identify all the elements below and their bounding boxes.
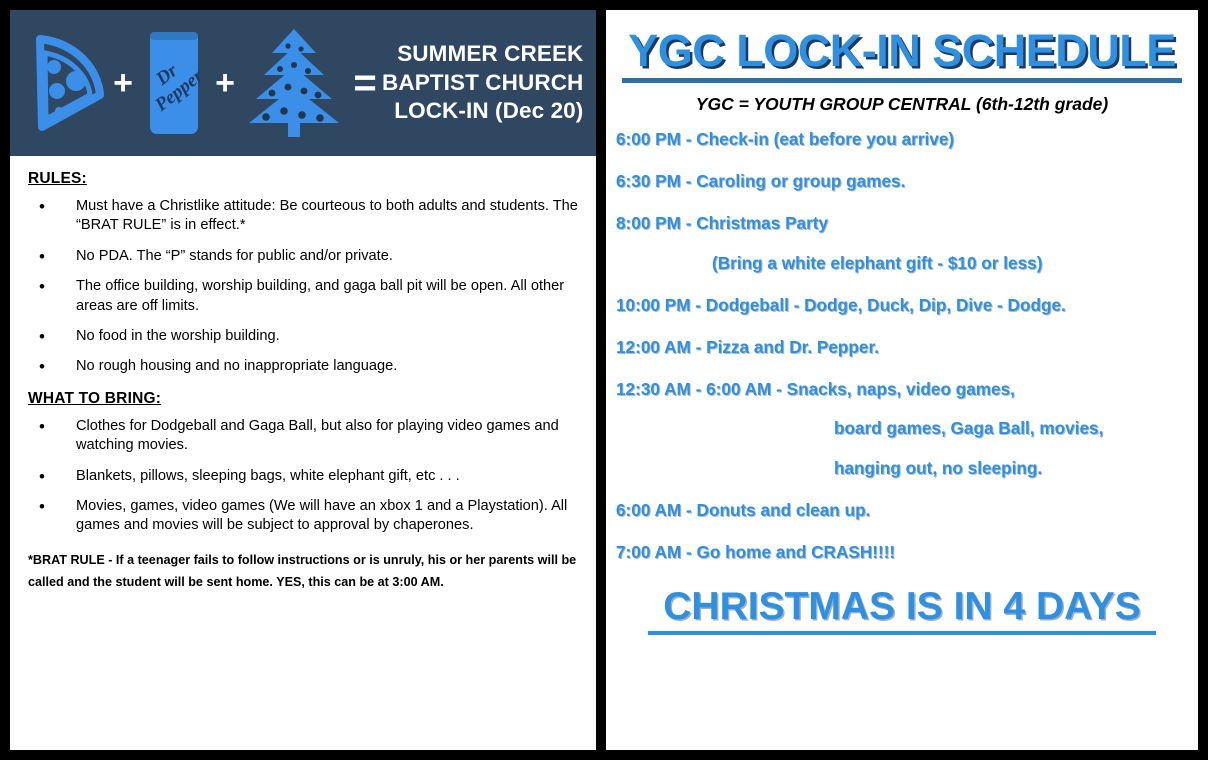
bullet-icon: • — [39, 356, 45, 379]
bring-list: • Clothes for Dodgeball and Gaga Ball, b… — [24, 417, 582, 536]
title-underline — [622, 78, 1182, 83]
bullet-icon: • — [39, 466, 45, 489]
plus-sign-2: + — [212, 66, 238, 100]
schedule-item: 6:30 PM - Caroling or group games. — [616, 173, 1198, 190]
bullet-icon: • — [39, 496, 45, 519]
pizza-slice-icon — [26, 33, 104, 133]
banner-title-line-2: BAPTIST CHURCH — [382, 69, 583, 98]
schedule-item-continuation: hanging out, no sleeping. — [834, 460, 1198, 477]
church-banner: + Dr Pepper + — [10, 10, 596, 156]
closing-banner-text: CHRISTMAS IS IN 4 DAYS — [606, 587, 1198, 626]
list-item: • Clothes for Dodgeball and Gaga Ball, b… — [24, 417, 582, 456]
page-subtitle: YGC = YOUTH GROUP CENTRAL (6th-12th grad… — [606, 94, 1198, 115]
brat-rule-footnote: *BRAT RULE - If a teenager fails to foll… — [28, 550, 578, 593]
list-item-text: Blankets, pillows, sleeping bags, white … — [76, 468, 460, 484]
schedule-item: 7:00 AM - Go home and CRASH!!!! — [616, 544, 1198, 561]
schedule-item: 12:00 AM - Pizza and Dr. Pepper. — [616, 339, 1198, 356]
banner-title-line-1: SUMMER CREEK — [382, 40, 583, 69]
list-item-text: No rough housing and no inappropriate la… — [76, 358, 397, 374]
banner-title: SUMMER CREEK BAPTIST CHURCH LOCK-IN (Dec… — [382, 40, 596, 126]
plus-sign-1: + — [110, 66, 136, 100]
banner-title-line-3: LOCK-IN (Dec 20) — [382, 97, 583, 126]
list-item: • Must have a Christlike attitude: Be co… — [24, 197, 582, 236]
list-item: • The office building, worship building,… — [24, 277, 582, 316]
page-title: YGC LOCK-IN SCHEDULE — [606, 28, 1198, 73]
list-item: • Movies, games, video games (We will ha… — [24, 497, 582, 536]
flyer-frame: + Dr Pepper + — [0, 0, 1208, 760]
rules-list: • Must have a Christlike attitude: Be co… — [24, 197, 582, 377]
closing-underline — [648, 631, 1156, 635]
list-item-text: Must have a Christlike attitude: Be cour… — [76, 198, 578, 233]
schedule-item: 10:00 PM - Dodgeball - Dodge, Duck, Dip,… — [616, 297, 1198, 314]
christmas-tree-icon — [244, 27, 344, 139]
right-panel: YGC LOCK-IN SCHEDULE YGC = YOUTH GROUP C… — [606, 10, 1198, 750]
list-item-text: Movies, games, video games (We will have… — [76, 498, 567, 533]
bullet-icon: • — [39, 246, 45, 269]
schedule-item: 8:00 PM - Christmas Party — [616, 215, 1198, 232]
left-body: RULES: • Must have a Christlike attitude… — [10, 156, 596, 750]
list-item-text: No food in the worship building. — [76, 328, 280, 344]
bullet-icon: • — [39, 276, 45, 299]
bullet-icon: • — [39, 326, 45, 349]
schedule-list: 6:00 PM - Check-in (eat before you arriv… — [606, 131, 1198, 561]
schedule-item-continuation: board games, Gaga Ball, movies, — [834, 420, 1198, 437]
list-item-text: The office building, worship building, a… — [76, 278, 564, 313]
left-panel: + Dr Pepper + — [10, 10, 596, 750]
dr-pepper-can-icon: Dr Pepper — [142, 28, 206, 138]
banner-equation: + Dr Pepper + — [10, 10, 382, 156]
list-item: • Blankets, pillows, sleeping bags, whit… — [24, 467, 582, 486]
rules-heading: RULES: — [28, 170, 582, 188]
schedule-item: 6:00 AM - Donuts and clean up. — [616, 502, 1198, 519]
list-item: • No rough housing and no inappropriate … — [24, 357, 582, 376]
equals-sign: = — [352, 63, 378, 103]
bullet-icon: • — [39, 416, 45, 439]
list-item-text: Clothes for Dodgeball and Gaga Ball, but… — [76, 418, 559, 453]
bullet-icon: • — [39, 196, 45, 219]
schedule-item: 6:00 PM - Check-in (eat before you arriv… — [616, 131, 1198, 148]
bring-heading: WHAT TO BRING: — [28, 390, 582, 408]
schedule-item-continuation: (Bring a white elephant gift - $10 or le… — [712, 255, 1198, 272]
list-item: • No PDA. The “P” stands for public and/… — [24, 247, 582, 266]
schedule-item: 12:30 AM - 6:00 AM - Snacks, naps, video… — [616, 381, 1198, 398]
list-item: • No food in the worship building. — [24, 327, 582, 346]
list-item-text: No PDA. The “P” stands for public and/or… — [76, 248, 393, 264]
